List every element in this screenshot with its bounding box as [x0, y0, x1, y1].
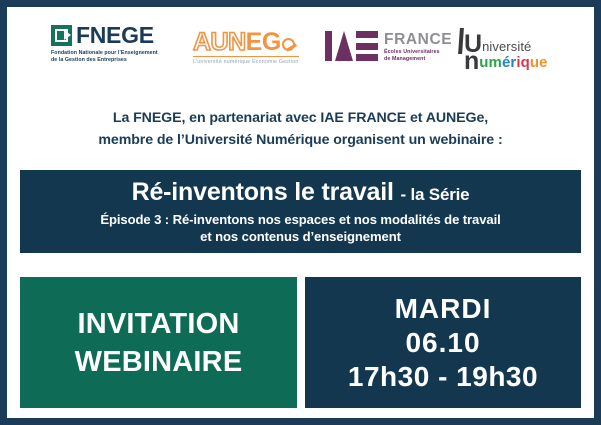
fnege-tagline-line2: de la Gestion des Entreprises: [51, 57, 183, 64]
aunege-wordmark: AUNEG: [193, 29, 301, 55]
iae-letter-a-icon: [335, 31, 353, 61]
invitation-line2: WEBINAIRE: [75, 343, 243, 381]
aunege-wordmark-part2: EG: [246, 28, 281, 56]
webinar-title-main: Ré-inventons le travail: [132, 178, 394, 206]
webinar-episode-subtitle: Épisode 3 : Ré-inventons nos espaces et …: [20, 211, 581, 245]
logo-iae-france: FRANCE Écoles Universitaires de Manageme…: [325, 31, 435, 64]
fnege-tagline-line1: Fondation Nationale pour l’Enseignement: [51, 50, 183, 57]
logo-fnege: FNEGE Fondation Nationale pour l’Enseign…: [51, 24, 191, 64]
iae-tagline-line2: de Management: [384, 56, 452, 63]
partner-logos-strip: FNEGE Fondation Nationale pour l’Enseign…: [7, 15, 594, 77]
webinar-episode-line1: Épisode 3 : Ré-inventons nos espaces et …: [20, 211, 581, 228]
webinar-title-suffix: - la Série: [401, 185, 470, 204]
unum-word-part2: ér: [502, 55, 516, 71]
bottom-blocks: INVITATION WEBINAIRE MARDI 06.10 17h30 -…: [20, 277, 581, 408]
date-time: 17h30 - 19h30: [348, 360, 538, 394]
iae-france-wordmark: FRANCE: [384, 32, 452, 47]
date-block: MARDI 06.10 17h30 - 19h30: [305, 277, 581, 408]
intro-line1: La FNEGE, en partenariat avec IAE FRANCE…: [7, 107, 594, 129]
webinar-title-banner: Ré-inventons le travail - la Série Épiso…: [20, 170, 581, 253]
iae-monogram-icon: [325, 31, 378, 61]
logo-aunege: AUNEG L’université numérique Economie Ge…: [193, 29, 301, 66]
unum-capital-n: n: [464, 51, 479, 71]
unum-word-part4: ue: [530, 55, 548, 71]
iae-letter-e-icon: [356, 31, 378, 61]
unum-word-part3: iq: [516, 55, 530, 71]
fnege-wordmark: FNEGE: [76, 24, 154, 47]
aunege-wordmark-part1: AUN: [193, 28, 246, 56]
iae-tagline: Écoles Universitaires de Management: [384, 49, 452, 64]
poster-frame: FNEGE Fondation Nationale pour l’Enseign…: [7, 7, 594, 418]
intro-line2: membre de l’Université Numérique organis…: [7, 129, 594, 151]
aunege-tagline: L’université numérique Economie Gestion: [193, 59, 301, 66]
logo-universite-numerique: U niversité n um ér iq ue: [459, 28, 571, 71]
aunege-underline: [193, 56, 299, 57]
date-date: 06.10: [405, 326, 480, 360]
fnege-arrow-icon: [51, 25, 72, 46]
iae-tagline-line1: Écoles Universitaires: [384, 49, 452, 56]
webinar-episode-line2: et nos contenus d’enseignement: [20, 228, 581, 245]
fnege-tagline: Fondation Nationale pour l’Enseignement …: [51, 50, 183, 64]
unum-word-universite: niversité: [482, 40, 531, 54]
intro-text: La FNEGE, en partenariat avec IAE FRANCE…: [7, 107, 594, 151]
invitation-line1: INVITATION: [77, 305, 239, 343]
unum-word-part1: um: [479, 55, 502, 71]
invitation-block: INVITATION WEBINAIRE: [20, 277, 297, 408]
aunege-e-circle-icon: [282, 38, 295, 51]
webinar-title: Ré-inventons le travail - la Série: [20, 178, 581, 209]
iae-letter-i-icon: [325, 31, 332, 61]
date-day: MARDI: [395, 292, 492, 326]
